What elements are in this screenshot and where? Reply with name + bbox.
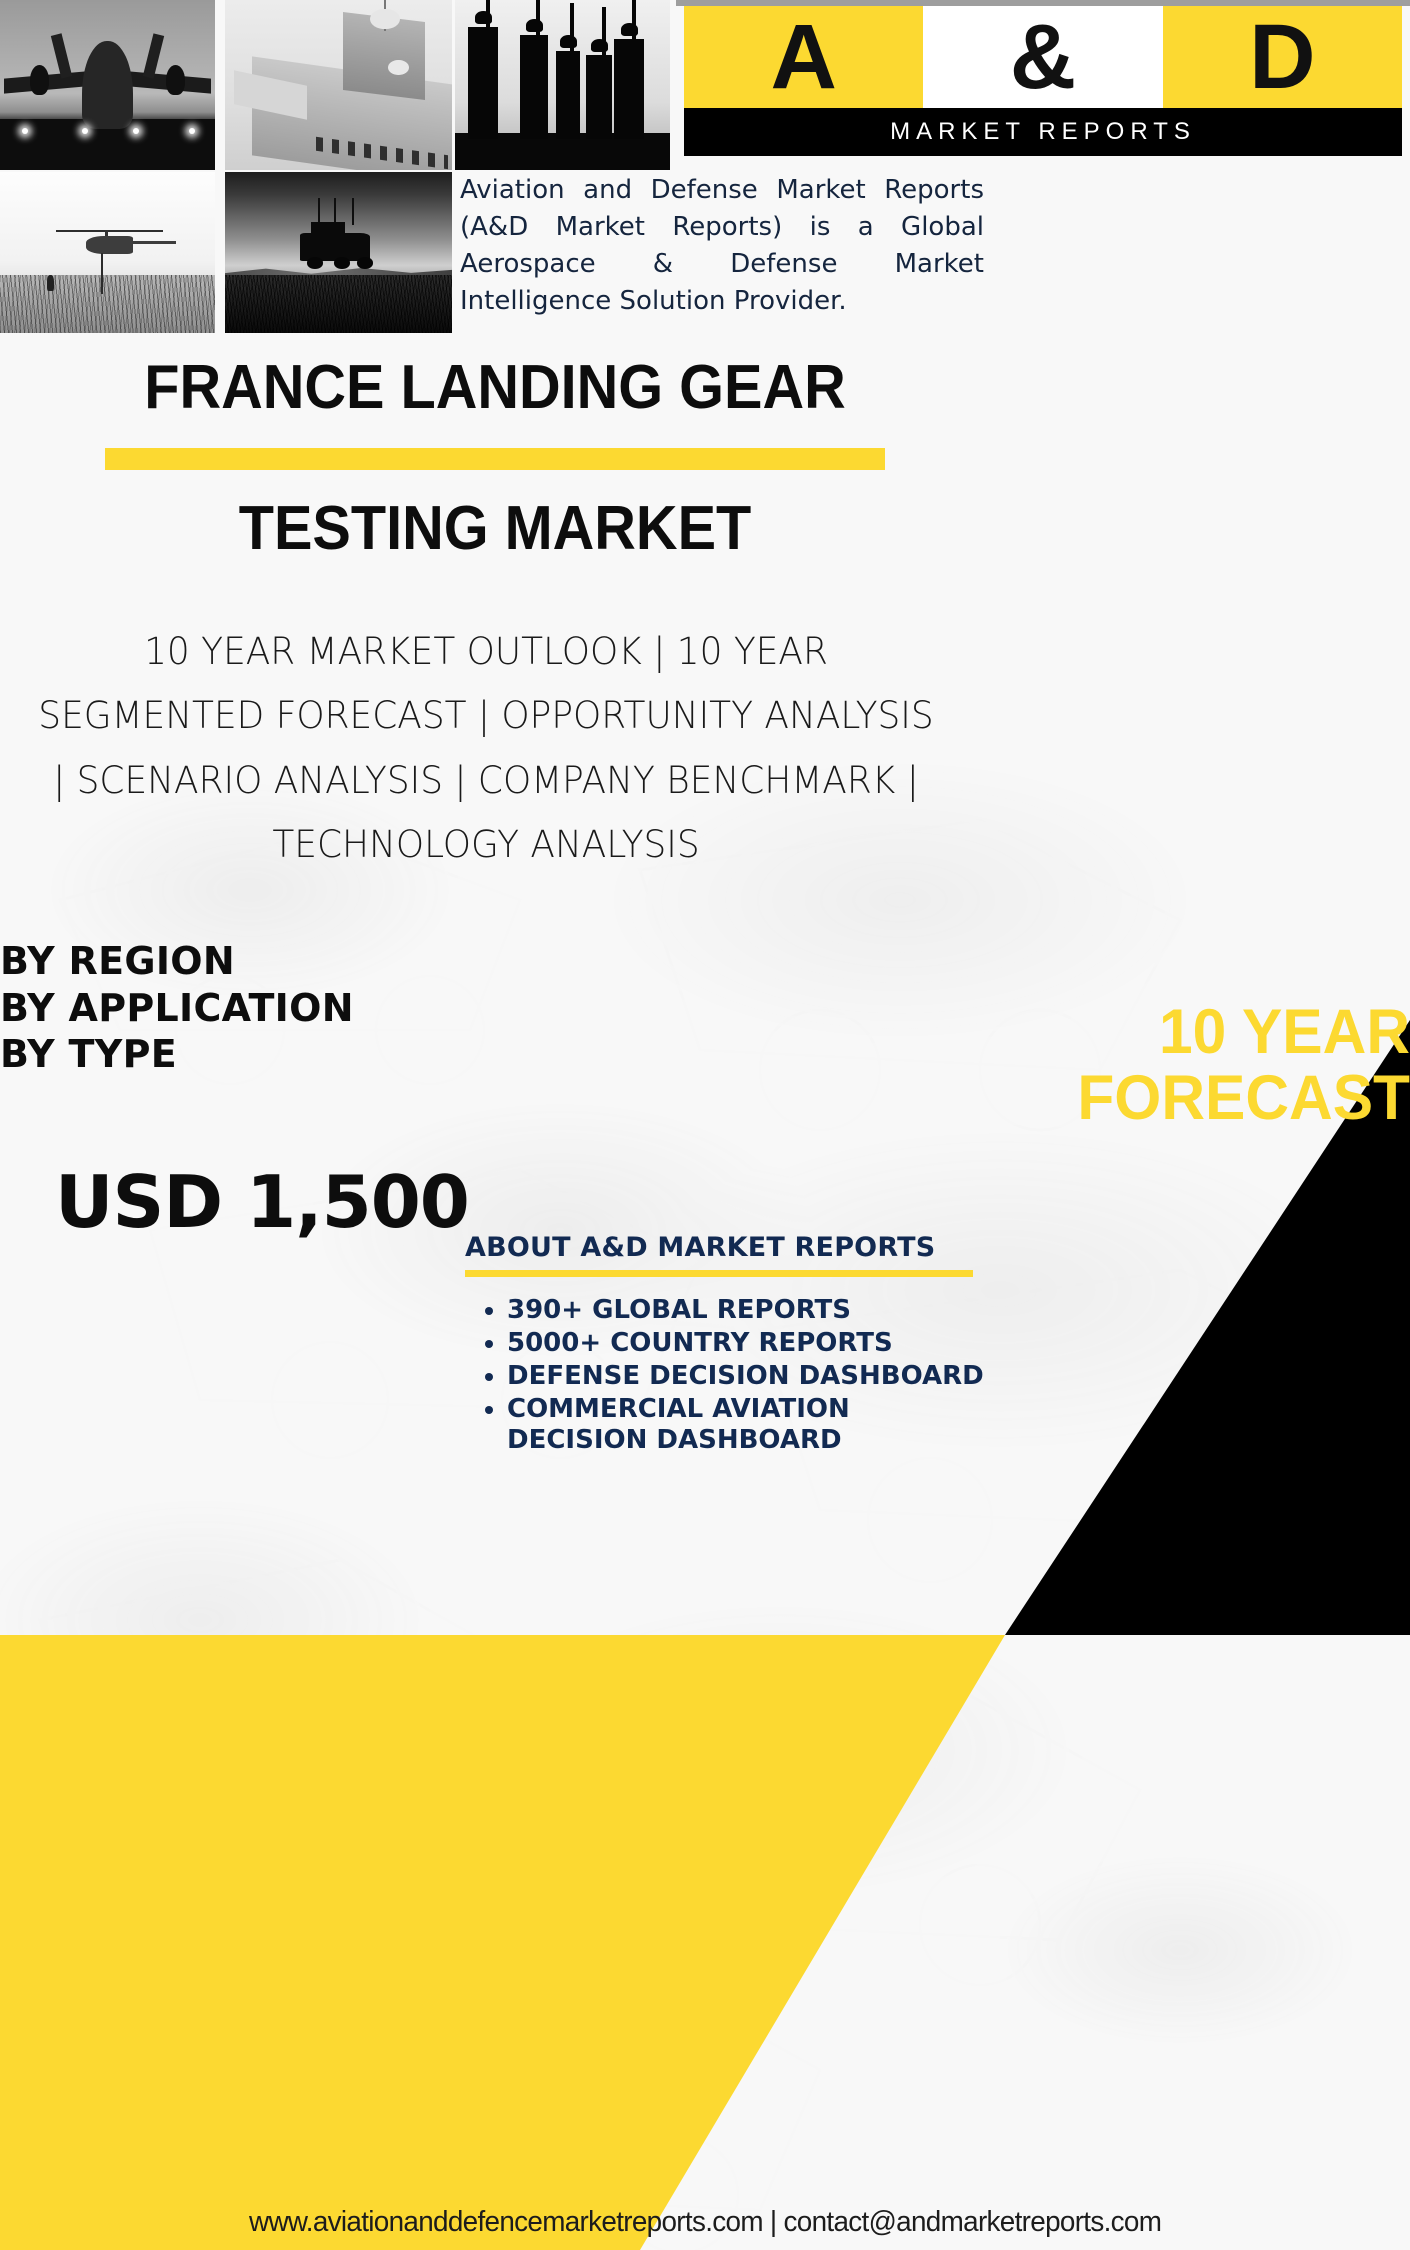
photo-armoured-vehicle <box>225 172 452 333</box>
report-title-line-1: FRANCE LANDING GEAR <box>35 355 956 420</box>
photo-fighter-jet-on-carrier-deck <box>0 0 215 170</box>
logo-letter-a: A <box>684 6 923 108</box>
report-title: FRANCE LANDING GEAR TESTING MARKET <box>0 355 990 561</box>
about-accent-rule <box>465 1270 973 1277</box>
segmentation-list: BY REGION BY APPLICATION BY TYPE <box>0 938 520 1078</box>
segment-item-application: BY APPLICATION <box>0 985 520 1032</box>
photo-collage <box>0 0 450 333</box>
about-bullet-global-reports: 390+ GLOBAL REPORTS <box>507 1295 985 1326</box>
about-bullet-country-reports: 5000+ COUNTRY REPORTS <box>507 1328 985 1359</box>
forecast-line-1: 10 YEAR <box>872 1000 1410 1066</box>
about-bullet-defense-dashboard: DEFENSE DECISION DASHBOARD <box>507 1361 985 1392</box>
company-intro-paragraph: Aviation and Defense Market Reports (A&D… <box>460 172 984 320</box>
title-accent-rule <box>105 448 885 470</box>
brand-logo: A & D MARKET REPORTS <box>676 0 1410 160</box>
report-title-line-2: TESTING MARKET <box>35 496 956 561</box>
photo-soldier-silhouettes <box>455 0 670 170</box>
about-section: ABOUT A&D MARKET REPORTS 390+ GLOBAL REP… <box>465 1232 985 1458</box>
segment-item-type: BY TYPE <box>0 1031 520 1078</box>
poster-root: A & D MARKET REPORTS Aviation and Defens… <box>0 0 1410 2250</box>
logo-tagline-text: MARKET REPORTS <box>890 118 1196 146</box>
forecast-line-2: FORECAST <box>872 1066 1410 1132</box>
yellow-diagonal-wedge <box>0 1635 1005 2250</box>
logo-letter-d: D <box>1163 6 1402 108</box>
about-bullet-commercial-dashboard: COMMERCIAL AVIATION DECISION DASHBOARD <box>507 1394 985 1456</box>
photo-aircraft-carrier <box>225 0 452 170</box>
forecast-callout: 10 YEAR FORECAST <box>872 1000 1410 1131</box>
logo-tagline-band: MARKET REPORTS <box>684 108 1402 156</box>
report-scope-subtitle: 10 YEAR MARKET OUTLOOK | 10 YEAR SEGMENT… <box>30 620 942 878</box>
about-bullet-list: 390+ GLOBAL REPORTS 5000+ COUNTRY REPORT… <box>465 1295 985 1456</box>
about-heading: ABOUT A&D MARKET REPORTS <box>465 1232 985 1263</box>
footer-contact-bar: www.aviationanddefencemarketreports.com … <box>0 2194 1410 2250</box>
logo-ampersand: & <box>923 6 1162 108</box>
segment-item-region: BY REGION <box>0 938 520 985</box>
photo-military-helicopter <box>0 172 215 333</box>
footer-contact-text: www.aviationanddefencemarketreports.com … <box>249 2206 1161 2239</box>
